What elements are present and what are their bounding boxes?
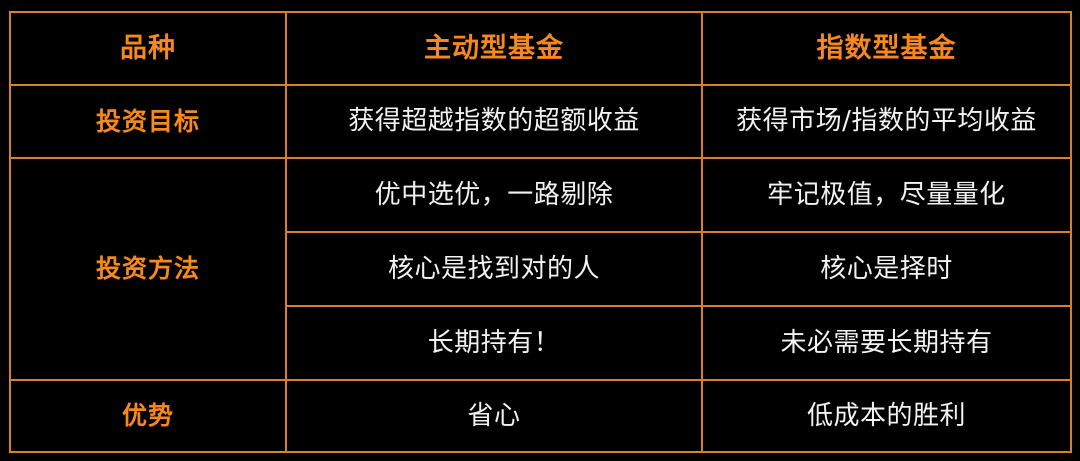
table-body: 投资目标 获得超越指数的超额收益 获得市场/指数的平均收益 投资方法 优中选优，…	[10, 85, 1071, 452]
table-row-investment-method-1: 投资方法 优中选优，一路剔除 牢记极值，尽量量化	[10, 158, 1071, 232]
slide-canvas: 品种 主动型基金 指数型基金 投资目标 获得超越指数的超额收益 获得市场/指数的…	[0, 0, 1080, 461]
row-label-investment-method: 投资方法	[10, 158, 286, 380]
cell-method-1-active-fund: 优中选优，一路剔除	[286, 158, 702, 232]
column-header-active-fund: 主动型基金	[286, 12, 702, 85]
cell-method-3-index-fund: 未必需要长期持有	[702, 306, 1071, 380]
column-header-category: 品种	[10, 12, 286, 85]
table-header-row: 品种 主动型基金 指数型基金	[10, 12, 1071, 85]
cell-method-1-index-fund: 牢记极值，尽量量化	[702, 158, 1071, 232]
row-label-advantage: 优势	[10, 380, 286, 452]
table-row-advantage: 优势 省心 低成本的胜利	[10, 380, 1071, 452]
fund-comparison-table: 品种 主动型基金 指数型基金 投资目标 获得超越指数的超额收益 获得市场/指数的…	[9, 11, 1072, 453]
cell-goal-index-fund: 获得市场/指数的平均收益	[702, 85, 1071, 158]
row-label-investment-goal: 投资目标	[10, 85, 286, 158]
column-header-index-fund: 指数型基金	[702, 12, 1071, 85]
cell-advantage-active-fund: 省心	[286, 380, 702, 452]
cell-method-2-index-fund: 核心是择时	[702, 232, 1071, 306]
cell-method-3-active-fund: 长期持有！	[286, 306, 702, 380]
table-header: 品种 主动型基金 指数型基金	[10, 12, 1071, 85]
cell-advantage-index-fund: 低成本的胜利	[702, 380, 1071, 452]
cell-goal-active-fund: 获得超越指数的超额收益	[286, 85, 702, 158]
cell-method-2-active-fund: 核心是找到对的人	[286, 232, 702, 306]
table-row-investment-goal: 投资目标 获得超越指数的超额收益 获得市场/指数的平均收益	[10, 85, 1071, 158]
